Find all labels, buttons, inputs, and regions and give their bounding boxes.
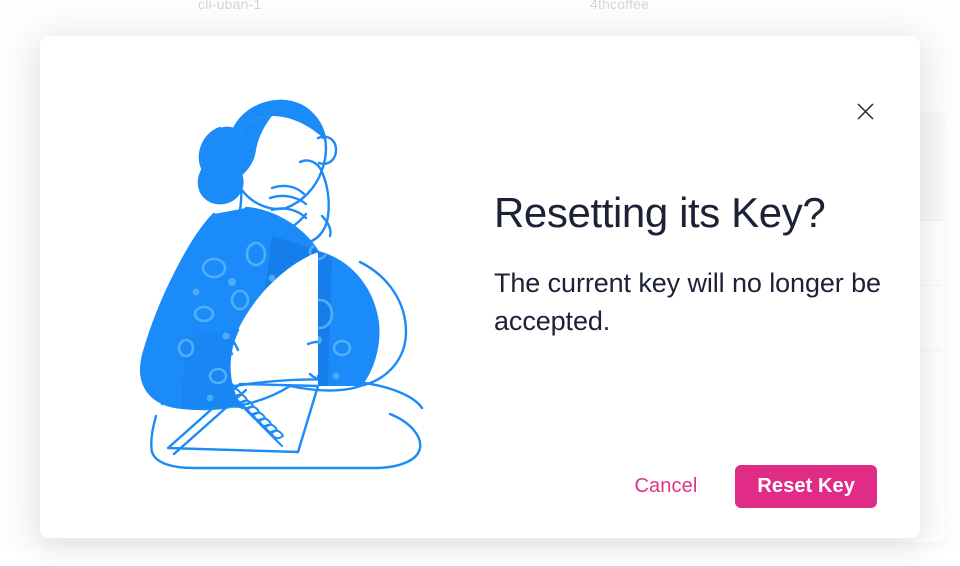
dialog-actions: Cancel Reset Key bbox=[631, 465, 877, 508]
dialog-body-text: The current key will no longer be accept… bbox=[494, 264, 914, 340]
cancel-button[interactable]: Cancel bbox=[631, 475, 702, 498]
reset-key-dialog: Resetting its Key? The current key will … bbox=[40, 36, 920, 538]
reset-key-button[interactable]: Reset Key bbox=[735, 465, 877, 508]
dialog-title: Resetting its Key? bbox=[494, 188, 914, 238]
woman-thinking-illustration bbox=[122, 86, 462, 476]
close-icon[interactable] bbox=[850, 96, 880, 126]
dialog-text-block: Resetting its Key? The current key will … bbox=[494, 188, 914, 340]
